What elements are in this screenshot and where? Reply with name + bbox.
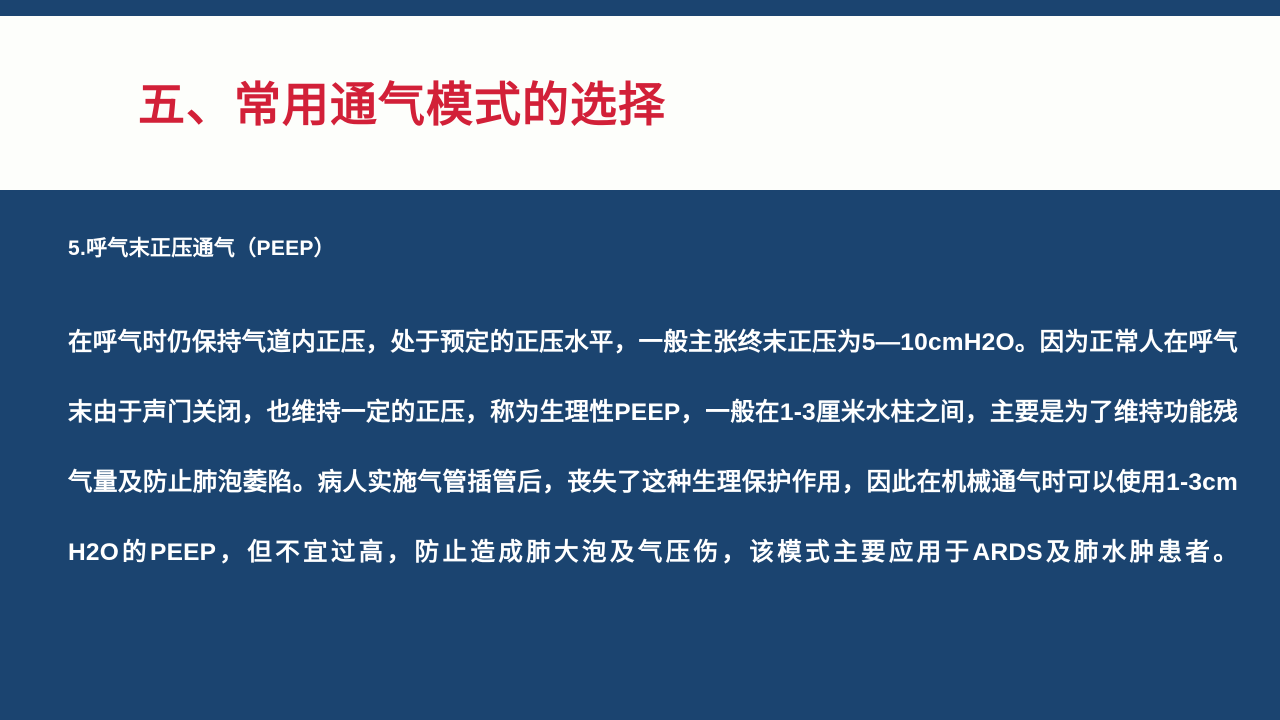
page-title: 五、常用通气模式的选择 [138,76,666,135]
section-subheading: 5.呼气末正压通气（PEEP） [68,232,335,262]
body-paragraph: 在呼气时仍保持气道内正压，处于预定的正压水平，一般主张终末正压为5—10cmH2… [68,308,1238,658]
top-accent-bar [0,0,1280,16]
slide-body: 5.呼气末正压通气（PEEP） 在呼气时仍保持气道内正压，处于预定的正压水平，一… [0,190,1280,720]
slide-header-band: 五、常用通气模式的选择 [0,16,1280,190]
presentation-slide: 五、常用通气模式的选择 5.呼气末正压通气（PEEP） 在呼气时仍保持气道内正压… [0,0,1280,720]
